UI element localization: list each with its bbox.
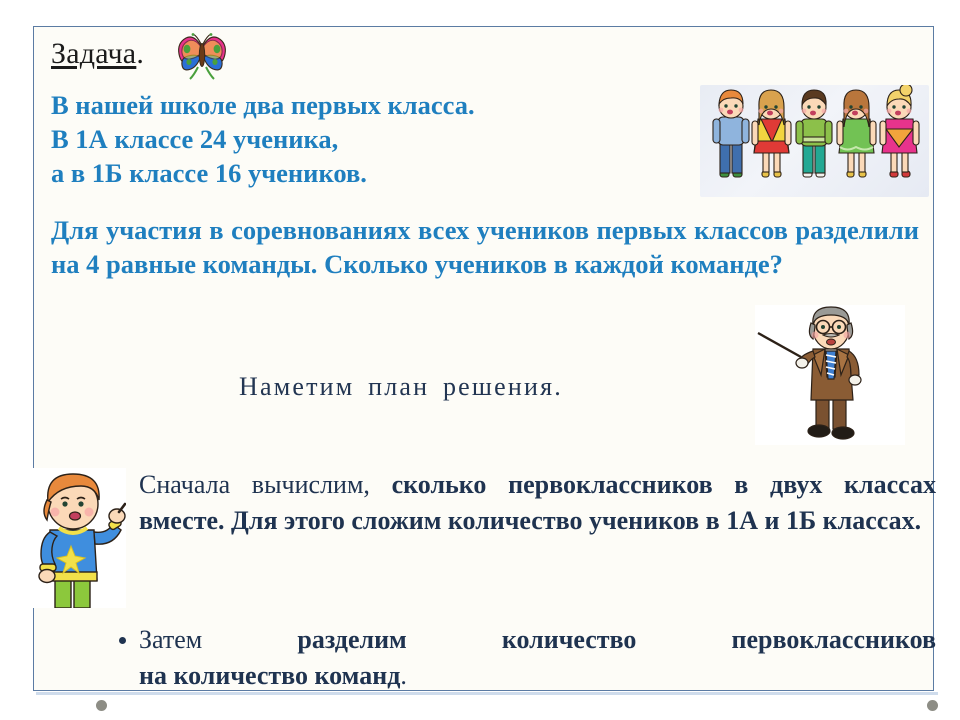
list-item-prefix: Сначала вычислим, (139, 470, 392, 499)
problem-question: Для участия в соревнованиях всех ученико… (51, 213, 919, 282)
page-title: Задача. (51, 37, 144, 71)
children-illustration (700, 85, 929, 197)
page-title-suffix: . (136, 37, 144, 70)
list-item: Сначала вычислим, сколько первокласснико… (106, 467, 936, 539)
list-item-body: Затем разделим количество первокласснико… (106, 622, 936, 694)
list-item-bold-last-line: на количество команд (139, 661, 400, 690)
problem-question-last-line: Сколько учеников в каждой команде? (324, 249, 783, 279)
list-item-bold-last-line: количество учеников в 1А и 1Б классах. (448, 506, 921, 535)
problem-statement-line-2: В 1А классе 24 ученика, (51, 123, 696, 157)
plan-heading: Наметим план решения. (51, 372, 751, 402)
list-item-body: Сначала вычислим, сколько первокласснико… (106, 467, 936, 539)
list-item-bold: разделим количество первоклассников (297, 625, 936, 654)
teacher-illustration (755, 305, 905, 445)
title-row: Задача. (51, 37, 144, 71)
problem-statement: В нашей школе два первых класса. В 1А кл… (51, 89, 696, 191)
boy-illustration (33, 468, 126, 608)
butterfly-illustration (174, 33, 230, 81)
frame-shadow (36, 692, 938, 695)
decorative-dot-right (927, 700, 938, 711)
problem-statement-line-1: В нашей школе два первых класса. (51, 89, 696, 123)
list-item-trailing: . (400, 661, 407, 690)
page-title-underlined: Задача (51, 37, 136, 70)
slide-canvas: Задача. В нашей школе два первых класса.… (0, 0, 960, 720)
list-item: Затем разделим количество первокласснико… (106, 622, 936, 694)
decorative-dot-left (96, 700, 107, 711)
list-item-prefix: Затем (139, 625, 297, 654)
problem-statement-line-3: а в 1Б классе 16 учеников. (51, 157, 696, 191)
